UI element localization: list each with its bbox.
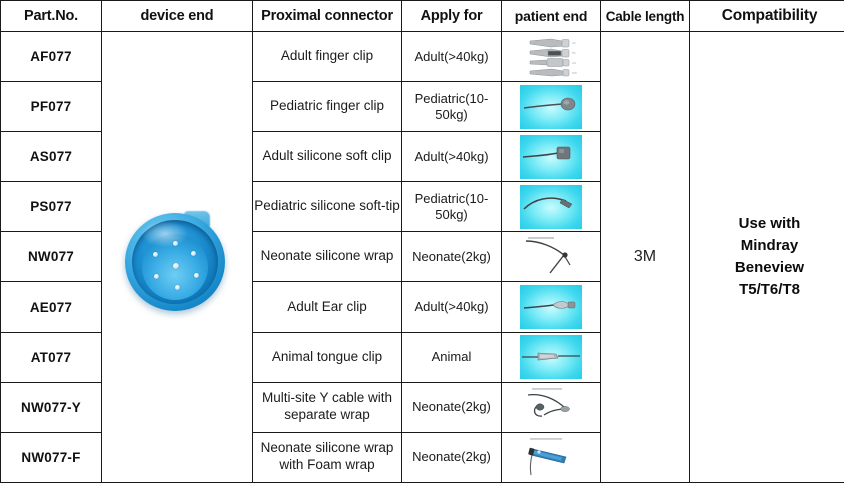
neonate-silicone-wrap-icon (520, 235, 582, 279)
sensor-compatibility-table: Part.No. device end Proximal connector A… (0, 0, 844, 483)
cell-proximal-connector: Pediatric finger clip (253, 82, 402, 132)
cell-patient-end (502, 132, 601, 182)
cell-part-no: PF077 (1, 82, 102, 132)
column-header-apply-for: Apply for (402, 1, 502, 32)
cell-patient-end (502, 182, 601, 232)
header-row: Part.No. device end Proximal connector A… (1, 1, 844, 32)
cell-proximal-connector: Adult Ear clip (253, 282, 402, 332)
cell-apply-for: Animal (402, 332, 502, 382)
pediatric-silicone-soft-tip-icon (520, 185, 582, 229)
cell-apply-for: Pediatric(10-50kg) (402, 82, 502, 132)
spec-table-page: Part.No. device end Proximal connector A… (0, 0, 844, 491)
cell-patient-end (502, 432, 601, 482)
svg-text:AS: AS (572, 61, 576, 65)
cell-apply-for: Pediatric(10-50kg) (402, 182, 502, 232)
cell-part-no: NW077 (1, 232, 102, 282)
cell-part-no: NW077-F (1, 432, 102, 482)
table-row: AF077 Adult finger clip Adult(>40kg) (1, 32, 844, 82)
cell-proximal-connector: Neonate silicone wrap (253, 232, 402, 282)
cell-device-end (102, 32, 253, 483)
cell-apply-for: Adult(>40kg) (402, 132, 502, 182)
cell-apply-for: Neonate(2kg) (402, 432, 502, 482)
multi-site-y-cable-icon (520, 385, 582, 429)
cell-part-no: AT077 (1, 332, 102, 382)
compatibility-line-1: Use with (690, 213, 844, 235)
compatibility-line-2: Mindray (690, 235, 844, 257)
column-header-proximal-connector: Proximal connector (253, 1, 402, 32)
compatibility-line-3: Beneview (690, 257, 844, 279)
adult-ear-clip-icon (520, 285, 582, 329)
cell-proximal-connector: Neonate silicone wrap with Foam wrap (253, 432, 402, 482)
cell-part-no: AF077 (1, 32, 102, 82)
adult-silicone-soft-clip-icon (520, 135, 582, 179)
column-header-compatibility: Compatibility (690, 1, 844, 32)
cell-proximal-connector: Adult finger clip (253, 32, 402, 82)
cell-proximal-connector: Adult silicone soft clip (253, 132, 402, 182)
svg-text:NW: NW (572, 71, 577, 75)
cell-patient-end (502, 332, 601, 382)
cell-apply-for: Neonate(2kg) (402, 382, 502, 432)
cell-apply-for: Adult(>40kg) (402, 32, 502, 82)
svg-text:PF: PF (572, 51, 576, 55)
blue-round-multipin-connector-icon (122, 201, 232, 313)
cell-part-no: NW077-Y (1, 382, 102, 432)
cell-compatibility: Use with Mindray Beneview T5/T6/T8 (690, 32, 844, 483)
cell-proximal-connector: Multi-site Y cable with separate wrap (253, 382, 402, 432)
animal-tongue-clip-icon (520, 335, 582, 379)
column-header-patient-end: patient end (502, 1, 601, 32)
table-body: AF077 Adult finger clip Adult(>40kg) (1, 32, 844, 483)
cell-proximal-connector: Animal tongue clip (253, 332, 402, 382)
cell-part-no: AS077 (1, 132, 102, 182)
cell-apply-for: Adult(>40kg) (402, 282, 502, 332)
table-header: Part.No. device end Proximal connector A… (1, 1, 844, 32)
column-header-cable-length: Cable length (601, 1, 690, 32)
svg-text:AF: AF (572, 41, 576, 45)
cell-patient-end (502, 82, 601, 132)
compatibility-line-4: T5/T6/T8 (690, 279, 844, 301)
column-header-part-no: Part.No. (1, 1, 102, 32)
cell-cable-length: 3M (601, 32, 690, 483)
cell-apply-for: Neonate(2kg) (402, 232, 502, 282)
pediatric-finger-clip-icon (520, 85, 582, 129)
adult-finger-clip-montage-icon: AFPF ASNW (518, 35, 584, 79)
cell-part-no: PS077 (1, 182, 102, 232)
cell-patient-end (502, 282, 601, 332)
cell-part-no: AE077 (1, 282, 102, 332)
cell-patient-end (502, 382, 601, 432)
column-header-device-end: device end (102, 1, 253, 32)
cell-patient-end: AFPF ASNW (502, 32, 601, 82)
cell-patient-end (502, 232, 601, 282)
neonate-foam-wrap-icon (520, 435, 582, 479)
cell-proximal-connector: Pediatric silicone soft-tip (253, 182, 402, 232)
